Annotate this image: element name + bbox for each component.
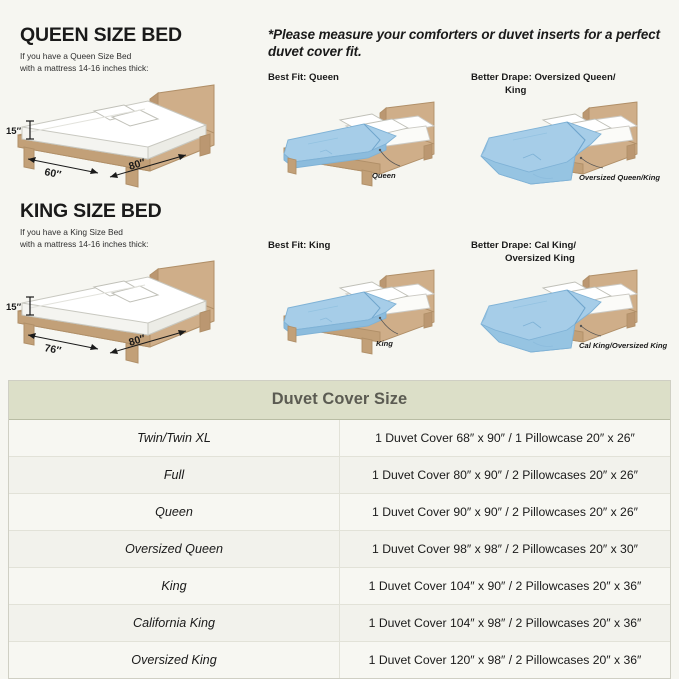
duvet-cell-label: Better Drape: Cal King/ Oversized King <box>471 240 671 268</box>
duvet-bed-illustration-oversized: Cal King/Oversized King <box>471 268 671 360</box>
queen-bed-subtitle-line1: If you have a Queen Size Bed <box>20 51 131 61</box>
svg-text:King: King <box>376 339 393 348</box>
table-row: Queen 1 Duvet Cover 90″ x 90″ / 2 Pillow… <box>9 494 670 531</box>
svg-text:60″: 60″ <box>43 166 62 181</box>
table-row: Full 1 Duvet Cover 80″ x 90″ / 2 Pillowc… <box>9 457 670 494</box>
table-row: Oversized Queen 1 Duvet Cover 98″ x 98″ … <box>9 531 670 568</box>
table-cell-size-value: 1 Duvet Cover 104″ x 90″ / 2 Pillowcases… <box>340 568 671 605</box>
table-cell-size-value: 1 Duvet Cover 90″ x 90″ / 2 Pillowcases … <box>340 494 671 531</box>
duvet-bed-illustration-fitted: King <box>268 268 468 360</box>
table-cell-size-name: King <box>9 568 340 605</box>
table-body: Twin/Twin XL 1 Duvet Cover 68″ x 90″ / 1… <box>9 420 670 679</box>
measure-note: *Please measure your comforters or duvet… <box>268 26 676 61</box>
duvet-row-king: Best Fit: King <box>263 240 679 360</box>
table-cell-size-value: 1 Duvet Cover 68″ x 90″ / 1 Pillowcase 2… <box>340 420 671 457</box>
queen-bed-subtitle: If you have a Queen Size Bed with a matt… <box>20 51 258 75</box>
duvet-cell-best-fit-queen: Best Fit: Queen <box>268 72 468 192</box>
svg-text:15″: 15″ <box>6 126 22 137</box>
duvet-cell-label-line2: Oversized King <box>471 253 671 266</box>
svg-text:Cal King/Oversized King: Cal King/Oversized King <box>579 341 668 350</box>
duvet-cover-size-table: Duvet Cover Size Twin/Twin XL 1 Duvet Co… <box>8 380 671 679</box>
svg-text:Oversized Queen/King: Oversized Queen/King <box>579 173 660 182</box>
table-cell-size-name: Full <box>9 457 340 494</box>
queen-bed-subtitle-line2: with a mattress 14-16 inches thick: <box>20 63 148 73</box>
svg-text:76″: 76″ <box>43 342 62 357</box>
duvet-cell-label-line2: King <box>471 85 671 98</box>
infographic-page: QUEEN SIZE BED If you have a Queen Size … <box>0 0 679 679</box>
table-row: California King 1 Duvet Cover 104″ x 98″… <box>9 605 670 642</box>
king-bed-subtitle-line1: If you have a King Size Bed <box>20 227 123 237</box>
duvet-cell-label-line1: Better Drape: Cal King/ <box>471 240 576 251</box>
king-bed-subtitle-line2: with a mattress 14-16 inches thick: <box>20 239 148 249</box>
duvet-bed-illustration-fitted: Queen <box>268 100 468 192</box>
table-cell-size-name: Oversized Queen <box>9 531 340 568</box>
duvet-cell-better-drape-cal-king-oversized-king: Better Drape: Cal King/ Oversized King <box>471 240 671 360</box>
king-bed-subtitle: If you have a King Size Bed with a mattr… <box>20 227 258 251</box>
table-cell-size-value: 1 Duvet Cover 80″ x 90″ / 2 Pillowcases … <box>340 457 671 494</box>
king-bed-title: KING SIZE BED <box>20 200 258 223</box>
duvet-cell-label: Best Fit: King <box>268 240 468 268</box>
svg-text:15″: 15″ <box>6 302 22 313</box>
duvet-cell-label: Better Drape: Oversized Queen/ King <box>471 72 671 100</box>
table-cell-size-value: 1 Duvet Cover 120″ x 98″ / 2 Pillowcases… <box>340 642 671 679</box>
table-cell-size-name: California King <box>9 605 340 642</box>
queen-bed-block: QUEEN SIZE BED If you have a Queen Size … <box>0 24 258 195</box>
table-row: Twin/Twin XL 1 Duvet Cover 68″ x 90″ / 1… <box>9 420 670 457</box>
duvet-cell-label: Best Fit: Queen <box>268 72 468 100</box>
king-bed-block: KING SIZE BED If you have a King Size Be… <box>0 200 258 371</box>
table-header: Duvet Cover Size <box>9 381 670 420</box>
table-cell-size-name: Oversized King <box>9 642 340 679</box>
duvet-cell-better-drape-oversized-queen-king: Better Drape: Oversized Queen/ King <box>471 72 671 192</box>
duvet-cell-best-fit-king: Best Fit: King <box>268 240 468 360</box>
table-row: King 1 Duvet Cover 104″ x 90″ / 2 Pillow… <box>9 568 670 605</box>
duvet-cell-label-line1: Better Drape: Oversized Queen/ <box>471 72 616 83</box>
bed-size-diagrams: QUEEN SIZE BED If you have a Queen Size … <box>0 0 258 372</box>
table-cell-size-name: Twin/Twin XL <box>9 420 340 457</box>
svg-text:Queen: Queen <box>372 171 396 180</box>
table-cell-size-value: 1 Duvet Cover 104″ x 98″ / 2 Pillowcases… <box>340 605 671 642</box>
table-row: Oversized King 1 Duvet Cover 120″ x 98″ … <box>9 642 670 679</box>
queen-bed-title: QUEEN SIZE BED <box>20 24 258 47</box>
duvet-row-queen: Best Fit: Queen <box>263 72 679 192</box>
king-bed-illustration: 15″ 76″ 80″ <box>0 253 258 371</box>
duvet-bed-illustration-oversized: Oversized Queen/King <box>471 100 671 192</box>
table-cell-size-value: 1 Duvet Cover 98″ x 98″ / 2 Pillowcases … <box>340 531 671 568</box>
queen-bed-illustration: 15″ 60″ 80″ <box>0 77 258 195</box>
duvet-drape-examples: *Please measure your comforters or duvet… <box>263 0 679 372</box>
table-cell-size-name: Queen <box>9 494 340 531</box>
